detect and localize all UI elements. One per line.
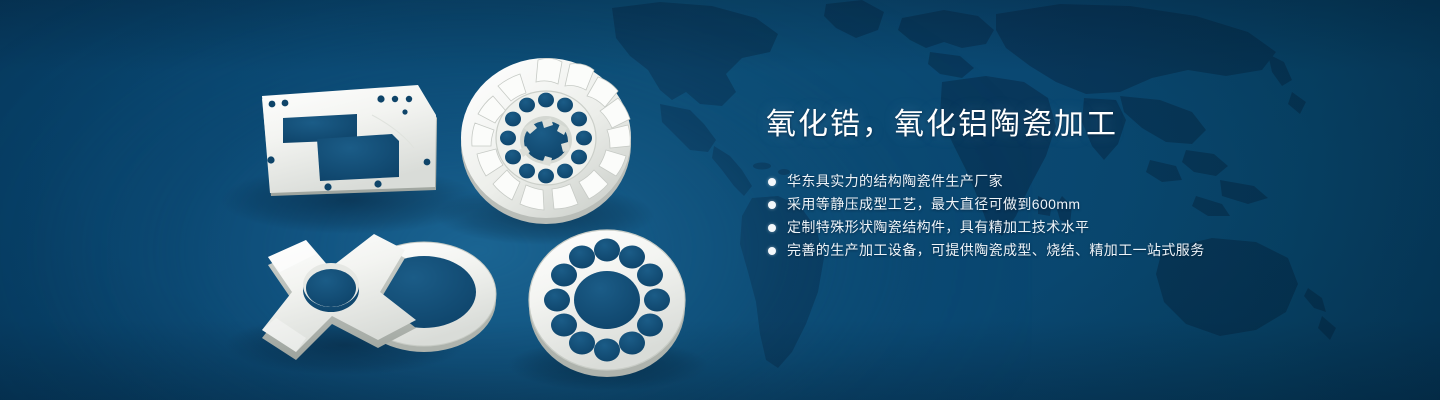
banner-text-column: 氧化锆，氧化铝陶瓷加工 华东具实力的结构陶瓷件生产厂家 采用等静压成型工艺，最大… [766,104,1326,262]
page-title: 氧化锆，氧化铝陶瓷加工 [766,104,1326,146]
feature-text: 定制特殊形状陶瓷结构件，具有精加工技术水平 [787,216,1089,239]
list-item: 完善的生产加工设备，可提供陶瓷成型、烧结、精加工一站式服务 [768,239,1326,262]
bullet-icon [768,201,776,209]
feature-list: 华东具实力的结构陶瓷件生产厂家 采用等静压成型工艺，最大直径可做到600mm 定… [768,170,1326,262]
list-item: 采用等静压成型工艺，最大直径可做到600mm [768,193,1326,216]
feature-text: 采用等静压成型工艺，最大直径可做到600mm [787,193,1080,216]
ceramic-plate-part [262,85,437,196]
bullet-icon [768,247,776,255]
list-item: 定制特殊形状陶瓷结构件，具有精加工技术水平 [768,216,1326,239]
ceramic-holed-disc-part [529,230,685,377]
hero-banner: 氧化锆，氧化铝陶瓷加工 华东具实力的结构陶瓷件生产厂家 采用等静压成型工艺，最大… [0,0,1440,400]
feature-text: 华东具实力的结构陶瓷件生产厂家 [787,170,1003,193]
bullet-icon [768,224,776,232]
list-item: 华东具实力的结构陶瓷件生产厂家 [768,170,1326,193]
feature-text: 完善的生产加工设备，可提供陶瓷成型、烧结、精加工一站式服务 [787,239,1205,262]
ceramic-products-image [0,0,760,400]
ceramic-impeller-part [461,58,631,224]
bullet-icon [768,178,776,186]
